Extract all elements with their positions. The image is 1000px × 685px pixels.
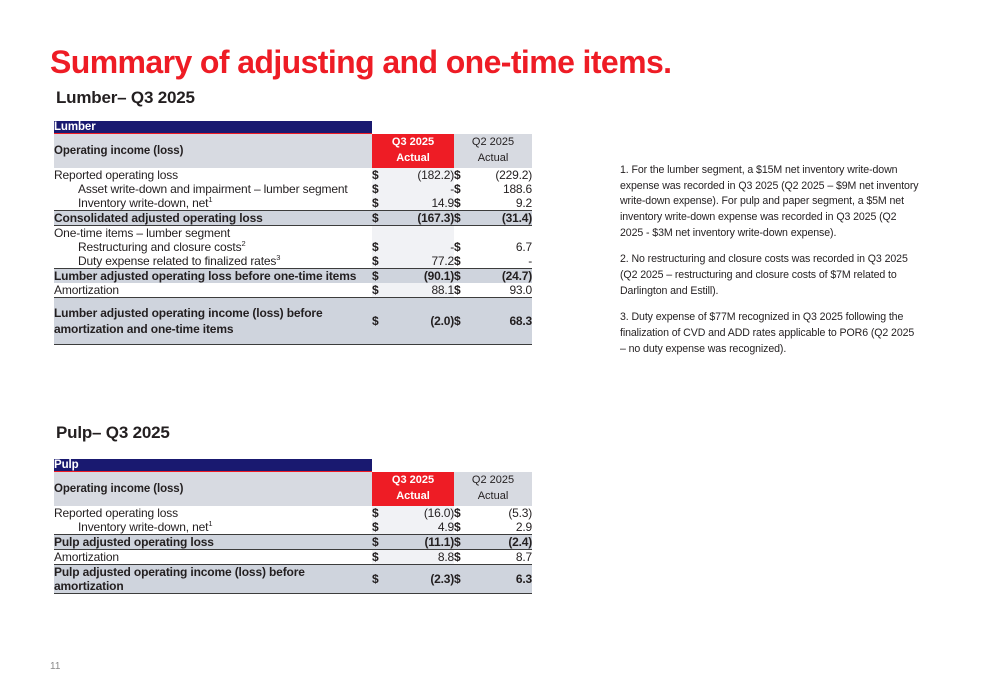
row-label: Inventory write-down, net1	[54, 196, 372, 211]
row-currency-q3	[372, 226, 398, 241]
row-value-q2: 6.7	[478, 240, 532, 254]
table-row: Lumber adjusted operating income (loss) …	[54, 298, 532, 345]
row-currency-q2: $	[454, 565, 478, 594]
table-row: Amortization$88.1$93.0	[54, 283, 532, 298]
table-row: Inventory write-down, net1$4.9$2.9	[54, 520, 532, 535]
table-row: Reported operating loss$(182.2)$(229.2)	[54, 168, 532, 182]
row-currency-q2: $	[454, 283, 478, 298]
pulp-header-row: Operating income (loss)Q3 2025ActualQ2 2…	[54, 472, 532, 507]
pulp-section-title: Pulp– Q3 2025	[56, 423, 170, 443]
row-value-q2: (229.2)	[478, 168, 532, 182]
footnote-marker: 1	[208, 519, 212, 528]
page-title: Summary of adjusting and one-time items.	[50, 44, 671, 81]
footnotes-panel: 1. For the lumber segment, a $15M net in…	[620, 163, 920, 368]
row-value-q3: 8.8	[398, 550, 454, 565]
row-label: Lumber adjusted operating loss before on…	[54, 269, 372, 284]
footnote: 3. Duty expense of $77M recognized in Q3…	[620, 310, 920, 357]
footnote-marker: 1	[208, 195, 212, 204]
row-currency-q3: $	[372, 283, 398, 298]
row-value-q3: 4.9	[398, 520, 454, 535]
pulp-header-label: Operating income (loss)	[54, 472, 372, 507]
row-currency-q3: $	[372, 298, 398, 345]
row-label: Lumber adjusted operating income (loss) …	[54, 298, 372, 345]
pulp-band-filler	[372, 459, 532, 472]
row-currency-q3: $	[372, 211, 398, 226]
lumber-table: LumberOperating income (loss)Q3 2025Actu…	[54, 121, 532, 345]
row-value-q2: (2.4)	[478, 535, 532, 550]
table-row: Restructuring and closure costs2$-$6.7	[54, 240, 532, 254]
row-currency-q3: $	[372, 269, 398, 284]
lumber-table-body: LumberOperating income (loss)Q3 2025Actu…	[54, 121, 532, 345]
footnote: 1. For the lumber segment, a $15M net in…	[620, 163, 920, 241]
lumber-band-label: Lumber	[54, 121, 372, 134]
row-label: Pulp adjusted operating income (loss) be…	[54, 565, 372, 594]
row-currency-q3: $	[372, 535, 398, 550]
slide-page: Summary of adjusting and one-time items.…	[0, 0, 1000, 685]
row-value-q3: (90.1)	[398, 269, 454, 284]
row-value-q3: (16.0)	[398, 506, 454, 520]
row-value-q3: -	[398, 182, 454, 196]
row-currency-q2: $	[454, 535, 478, 550]
row-label: One-time items – lumber segment	[54, 226, 372, 241]
row-value-q2: 93.0	[478, 283, 532, 298]
lumber-band-filler	[372, 121, 532, 134]
row-currency-q2: $	[454, 254, 478, 269]
row-label: Amortization	[54, 283, 372, 298]
row-value-q3: (182.2)	[398, 168, 454, 182]
row-currency-q2: $	[454, 269, 478, 284]
pulp-header-q3: Q3 2025Actual	[372, 472, 454, 507]
page-number: 11	[50, 661, 60, 672]
row-currency-q2: $	[454, 298, 478, 345]
pulp-band-row: Pulp	[54, 459, 532, 472]
row-value-q3	[398, 226, 454, 241]
row-value-q3: 88.1	[398, 283, 454, 298]
row-value-q3: 77.2	[398, 254, 454, 269]
table-row: Reported operating loss$(16.0)$(5.3)	[54, 506, 532, 520]
lumber-band-row: Lumber	[54, 121, 532, 134]
row-value-q2	[478, 226, 532, 241]
row-label: Amortization	[54, 550, 372, 565]
row-value-q2: 2.9	[478, 520, 532, 535]
lumber-header-q3: Q3 2025Actual	[372, 134, 454, 169]
table-row: Duty expense related to finalized rates3…	[54, 254, 532, 269]
row-value-q3: -	[398, 240, 454, 254]
row-value-q3: (11.1)	[398, 535, 454, 550]
footnote: 2. No restructuring and closure costs wa…	[620, 252, 920, 299]
row-value-q3: (2.0)	[398, 298, 454, 345]
pulp-band-label: Pulp	[54, 459, 372, 472]
row-currency-q3: $	[372, 254, 398, 269]
row-currency-q2: $	[454, 211, 478, 226]
row-label: Reported operating loss	[54, 506, 372, 520]
row-currency-q2	[454, 226, 478, 241]
row-currency-q3: $	[372, 520, 398, 535]
table-row: Consolidated adjusted operating loss$(16…	[54, 211, 532, 226]
row-value-q2: 6.3	[478, 565, 532, 594]
row-currency-q2: $	[454, 240, 478, 254]
row-label: Asset write-down and impairment – lumber…	[54, 182, 372, 196]
row-currency-q2: $	[454, 550, 478, 565]
row-value-q2: (31.4)	[478, 211, 532, 226]
table-row: One-time items – lumber segment	[54, 226, 532, 241]
table-row: Lumber adjusted operating loss before on…	[54, 269, 532, 284]
pulp-header-q2: Q2 2025Actual	[454, 472, 532, 507]
row-label: Inventory write-down, net1	[54, 520, 372, 535]
footnote-marker: 2	[241, 239, 245, 248]
row-currency-q2: $	[454, 520, 478, 535]
row-currency-q3: $	[372, 506, 398, 520]
row-currency-q2: $	[454, 196, 478, 211]
row-currency-q3: $	[372, 550, 398, 565]
row-value-q2: 68.3	[478, 298, 532, 345]
pulp-table: PulpOperating income (loss)Q3 2025Actual…	[54, 459, 532, 594]
pulp-table-body: PulpOperating income (loss)Q3 2025Actual…	[54, 459, 532, 594]
row-value-q2: -	[478, 254, 532, 269]
table-row: Amortization$8.8$8.7	[54, 550, 532, 565]
row-currency-q2: $	[454, 506, 478, 520]
row-label: Pulp adjusted operating loss	[54, 535, 372, 550]
row-value-q2: 9.2	[478, 196, 532, 211]
lumber-section-title: Lumber– Q3 2025	[56, 88, 195, 108]
lumber-header-label: Operating income (loss)	[54, 134, 372, 169]
row-value-q2: 8.7	[478, 550, 532, 565]
row-label: Reported operating loss	[54, 168, 372, 182]
row-currency-q3: $	[372, 196, 398, 211]
row-value-q2: (5.3)	[478, 506, 532, 520]
table-row: Asset write-down and impairment – lumber…	[54, 182, 532, 196]
row-currency-q3: $	[372, 168, 398, 182]
row-label: Consolidated adjusted operating loss	[54, 211, 372, 226]
row-value-q3: (167.3)	[398, 211, 454, 226]
row-currency-q2: $	[454, 182, 478, 196]
table-row: Pulp adjusted operating loss$(11.1)$(2.4…	[54, 535, 532, 550]
row-value-q2: 188.6	[478, 182, 532, 196]
footnote-marker: 3	[276, 253, 280, 262]
table-row: Inventory write-down, net1$14.9$9.2	[54, 196, 532, 211]
row-label: Restructuring and closure costs2	[54, 240, 372, 254]
lumber-header-q2: Q2 2025Actual	[454, 134, 532, 169]
lumber-header-row: Operating income (loss)Q3 2025ActualQ2 2…	[54, 134, 532, 169]
table-row: Pulp adjusted operating income (loss) be…	[54, 565, 532, 594]
row-currency-q3: $	[372, 240, 398, 254]
row-currency-q3: $	[372, 182, 398, 196]
row-value-q2: (24.7)	[478, 269, 532, 284]
row-label: Duty expense related to finalized rates3	[54, 254, 372, 269]
row-currency-q3: $	[372, 565, 398, 594]
row-value-q3: (2.3)	[398, 565, 454, 594]
row-value-q3: 14.9	[398, 196, 454, 211]
row-currency-q2: $	[454, 168, 478, 182]
